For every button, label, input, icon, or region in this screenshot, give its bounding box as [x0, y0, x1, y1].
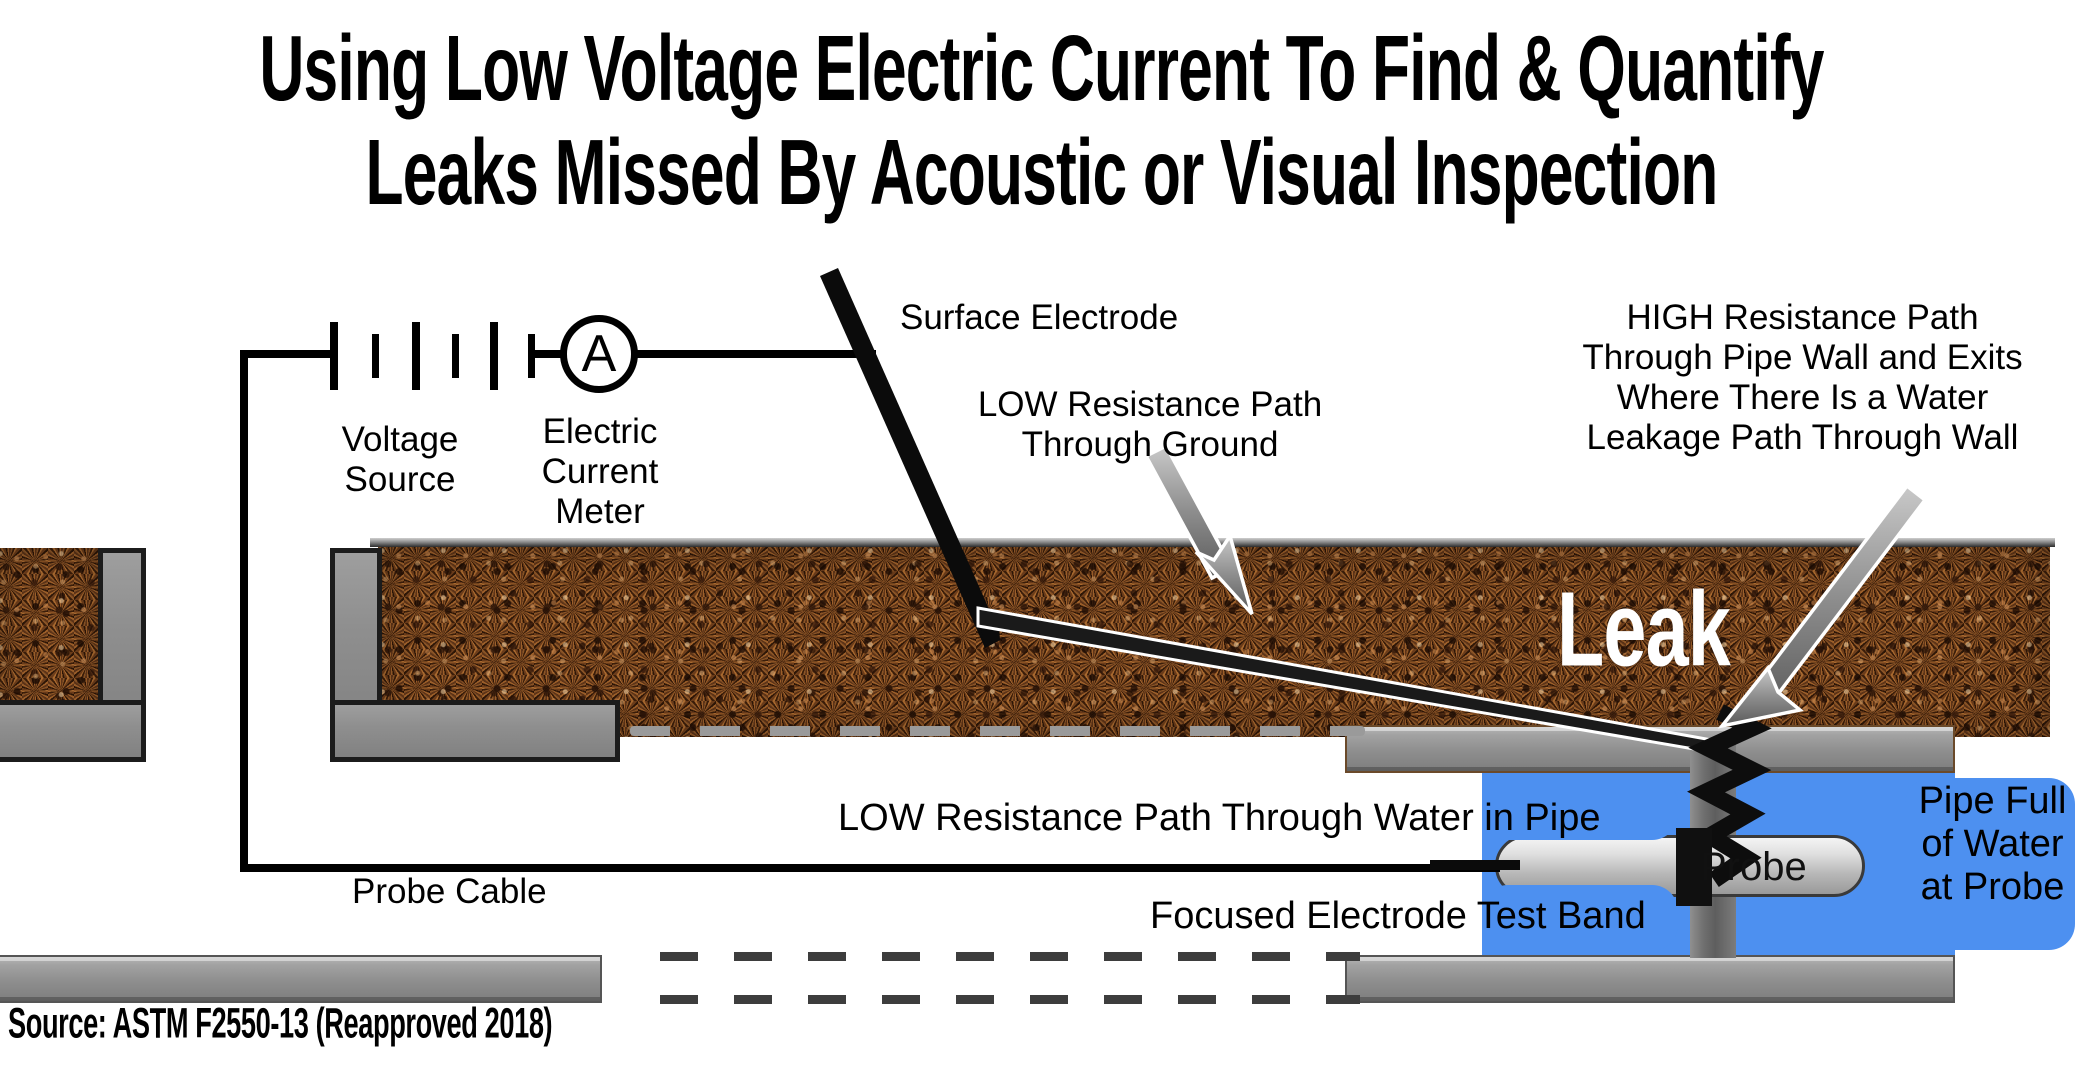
- diagram-canvas: Using Low Voltage Electric Current To Fi…: [0, 0, 2083, 1080]
- wire-probe-cable-horizontal: [240, 864, 1500, 872]
- pipe-wall-left-horizontal: [0, 700, 146, 762]
- pipe-full-of-water-label: Pipe Full of Water at Probe: [1910, 780, 2075, 909]
- ammeter-symbol: A: [560, 315, 638, 393]
- probe-cable-label: Probe Cable: [352, 872, 547, 912]
- low-resistance-water-label: LOW Resistance Path Through Water in Pip…: [838, 797, 1600, 840]
- page-title-line-1: Using Low Voltage Electric Current To Fi…: [187, 16, 1895, 122]
- pipe-wall-right-bottom: [1345, 955, 1955, 1003]
- hidden-edge-dashes-lower: [660, 995, 1360, 1004]
- ammeter-label: Electric Current Meter: [500, 412, 700, 532]
- focused-electrode-band-label: Focused Electrode Test Band: [1150, 895, 1646, 938]
- ground-surface-line: [370, 538, 2055, 547]
- battery-plate-long-3: [490, 322, 498, 390]
- pipe-wall-right-top: [1345, 725, 1955, 773]
- wire-battery-left: [240, 350, 330, 358]
- battery-plate-long-1: [330, 322, 338, 390]
- pipe-wall-elbow-horizontal: [330, 700, 620, 762]
- wire-left-vertical: [240, 350, 248, 872]
- high-resistance-wall-label: HIGH Resistance Path Through Pipe Wall a…: [1530, 298, 2075, 458]
- low-resistance-ground-label: LOW Resistance Path Through Ground: [940, 385, 1360, 465]
- battery-plate-long-2: [412, 322, 420, 390]
- probe-label: Probe: [1700, 845, 1807, 890]
- leak-label: Leak: [1557, 570, 1730, 692]
- voltage-source-label: Voltage Source: [300, 420, 500, 500]
- battery-plate-short-2: [452, 334, 459, 378]
- wire-ammeter-to-electrode: [636, 350, 876, 358]
- surface-electrode-label: Surface Electrode: [900, 298, 1178, 338]
- pipe-wall-lower-left: [0, 955, 602, 1003]
- source-citation: Source: ASTM F2550-13 (Reapproved 2018): [8, 1000, 552, 1049]
- page-title-line-2: Leaks Missed By Acoustic or Visual Inspe…: [187, 120, 1895, 226]
- soil-ground-main: [378, 545, 2050, 737]
- battery-plate-short-1: [372, 334, 379, 378]
- hidden-edge-dashes-upper: [630, 726, 1365, 736]
- hidden-edge-dashes-mid: [660, 952, 1360, 961]
